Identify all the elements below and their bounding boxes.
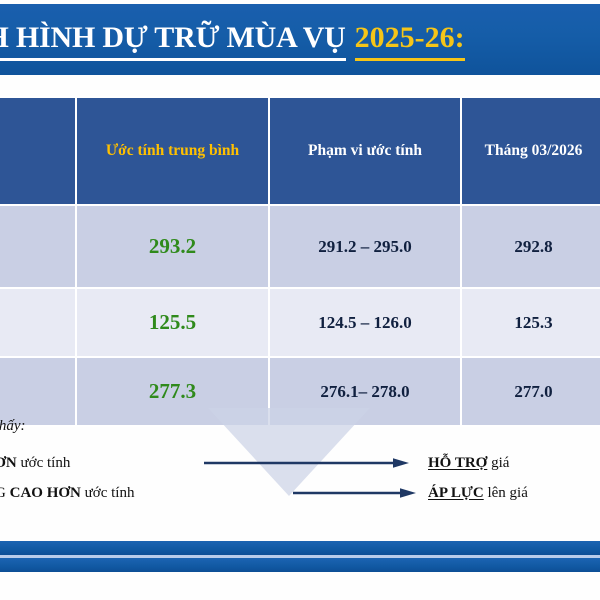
notes-lead-text: SDE cho thấy: (0, 418, 600, 435)
note-left-higher-post: ước tính (81, 485, 135, 501)
cell-previous-month: 277.0 (461, 357, 600, 426)
arrow-cell-lower (204, 448, 416, 478)
cell-estimate-range: 124.5 – 126.0 (269, 288, 461, 357)
note-right-support: HỖ TRỢ giá (416, 455, 509, 472)
note-right-pressure-post: lên giá (484, 485, 528, 501)
note-left-lower-bold: THẤP HƠN (0, 455, 17, 471)
row-label (0, 357, 76, 426)
right-arrow-icon (204, 457, 409, 469)
note-right-pressure-bold: ÁP LỰC (428, 485, 484, 501)
table-row: 293.2 291.2 – 295.0 292.8 (0, 205, 600, 288)
cell-average-estimate: 125.5 (76, 288, 269, 357)
note-right-pressure: ÁP LỰC lên giá (416, 485, 528, 502)
footer-bar-bottom (0, 558, 600, 572)
note-left-lower-post: ước tính (17, 455, 71, 471)
note-left-higher-bold: CAO HƠN (10, 485, 81, 501)
title-season-year: 2025-26: (355, 18, 465, 61)
table-row: 125.5 124.5 – 126.0 125.3 (0, 288, 600, 357)
column-header-previous-month: Tháng 03/2026 (461, 97, 600, 205)
footer-bar-top (0, 541, 600, 555)
row-label (0, 288, 76, 357)
note-row-higher: N LƯỢNG CAO HƠN ước tính ÁP LỰC lên giá (0, 478, 600, 508)
note-right-support-bold: HỖ TRỢ (428, 455, 487, 471)
page-title: NH HÌNH DỰ TRỮ MÙA VỤ (0, 18, 346, 61)
column-header-usda-line1: DA (0, 127, 69, 151)
row-label (0, 205, 76, 288)
cell-previous-month: 292.8 (461, 205, 600, 288)
note-left-higher-pre: N LƯỢNG (0, 485, 10, 501)
note-left-higher: N LƯỢNG CAO HƠN ước tính (0, 485, 204, 502)
notes-block: SDE cho thấy: THẤP HƠN ước tính HỖ TRỢ g… (0, 418, 600, 508)
right-arrow-icon (293, 487, 416, 499)
note-row-lower: THẤP HƠN ước tính HỖ TRỢ giá (0, 448, 600, 478)
estimates-table-container: DA 4/2026 Ước tính trung bình Phạm vi ướ… (0, 96, 600, 409)
cell-estimate-range: 291.2 – 295.0 (269, 205, 461, 288)
column-header-estimate-range: Phạm vi ước tính (269, 97, 461, 205)
arrow-cell-higher (204, 478, 416, 508)
cell-previous-month: 125.3 (461, 288, 600, 357)
title-banner: NH HÌNH DỰ TRỮ MÙA VỤ2025-26: (0, 4, 600, 75)
column-header-usda: DA 4/2026 (0, 97, 76, 205)
slide-canvas: NH HÌNH DỰ TRỮ MÙA VỤ2025-26: DA 4/2026 … (0, 0, 600, 600)
cell-average-estimate: 293.2 (76, 205, 269, 288)
note-right-support-post: giá (487, 455, 509, 471)
title-inner: NH HÌNH DỰ TRỮ MÙA VỤ2025-26: (0, 4, 600, 75)
note-left-lower: THẤP HƠN ước tính (0, 455, 204, 472)
column-header-usda-line2: 4/2026 (0, 151, 69, 175)
table-header-row: DA 4/2026 Ước tính trung bình Phạm vi ướ… (0, 97, 600, 205)
column-header-average-estimate: Ước tính trung bình (76, 97, 269, 205)
estimates-table: DA 4/2026 Ước tính trung bình Phạm vi ướ… (0, 96, 600, 427)
